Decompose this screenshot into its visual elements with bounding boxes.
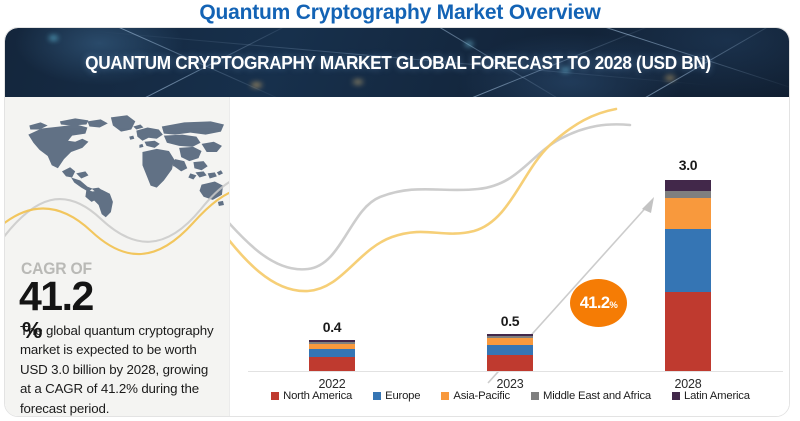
page-title: Quantum Cryptography Market Overview: [0, 0, 800, 27]
bar-segment-europe: [487, 345, 533, 355]
legend-item-north-america[interactable]: North America: [271, 390, 352, 402]
market-description: The global quantum cryptography market i…: [20, 321, 216, 417]
bar-segment-north-america: [665, 292, 711, 371]
cagr-badge: 41.2%: [570, 279, 627, 327]
bar-segment-europe: [309, 349, 355, 357]
legend-swatch-latin-america: [672, 392, 680, 400]
legend-swatch-north-america: [271, 392, 279, 400]
banner: QUANTUM CRYPTOGRAPHY MARKET GLOBAL FOREC…: [5, 28, 790, 97]
cagr-badge-value: 41.2: [580, 294, 610, 313]
legend-swatch-asia-pacific: [441, 392, 449, 400]
bar-total-label-2028: 3.0: [630, 157, 746, 173]
bar-segment-asia-pacific: [487, 338, 533, 345]
bar-2023: [487, 334, 533, 371]
x-axis-label-2028: 2028: [630, 377, 746, 391]
bar-segment-latin-america: [665, 180, 711, 191]
chart-panel: 0.4 2022 0.5 2023: [230, 97, 790, 417]
card-body: CAGR OF 41.2 % The global quantum crypto…: [5, 97, 790, 417]
infographic-page: Quantum Cryptography Market Overview QUA…: [0, 0, 800, 421]
infographic-card: QUANTUM CRYPTOGRAPHY MARKET GLOBAL FOREC…: [4, 27, 790, 417]
legend-item-latin-america[interactable]: Latin America: [672, 390, 750, 402]
bar-segment-middle-east-and-africa: [665, 191, 711, 198]
x-axis-label-2023: 2023: [452, 377, 568, 391]
legend-label-middle-east-and-africa: Middle East and Africa: [543, 390, 651, 402]
legend-item-europe[interactable]: Europe: [373, 390, 420, 402]
legend-label-north-america: North America: [283, 390, 352, 402]
bar-segment-north-america: [309, 357, 355, 371]
legend-swatch-middle-east-and-africa: [531, 392, 539, 400]
bar-2022: [309, 340, 355, 371]
banner-heading: QUANTUM CRYPTOGRAPHY MARKET GLOBAL FOREC…: [33, 28, 764, 97]
chart-legend: North America Europe Asia-Pacific Middle…: [230, 390, 790, 402]
legend-label-asia-pacific: Asia-Pacific: [453, 390, 510, 402]
bar-total-label-2023: 0.5: [452, 313, 568, 329]
legend-swatch-europe: [373, 392, 381, 400]
bar-segment-europe: [665, 229, 711, 292]
bar-segment-asia-pacific: [665, 198, 711, 229]
bar-total-label-2022: 0.4: [274, 319, 390, 335]
legend-label-europe: Europe: [385, 390, 420, 402]
legend-item-middle-east-and-africa[interactable]: Middle East and Africa: [531, 390, 651, 402]
decorative-wave-lines-left: [5, 157, 229, 267]
legend-label-latin-america: Latin America: [684, 390, 750, 402]
bar-segment-north-america: [487, 355, 533, 371]
chart-baseline: [248, 371, 783, 372]
left-panel: CAGR OF 41.2 % The global quantum crypto…: [5, 97, 230, 417]
bar-2028: [665, 180, 711, 371]
legend-item-asia-pacific[interactable]: Asia-Pacific: [441, 390, 510, 402]
cagr-value: 41.2: [19, 274, 93, 318]
x-axis-label-2022: 2022: [274, 377, 390, 391]
cagr-badge-symbol: %: [609, 300, 617, 311]
